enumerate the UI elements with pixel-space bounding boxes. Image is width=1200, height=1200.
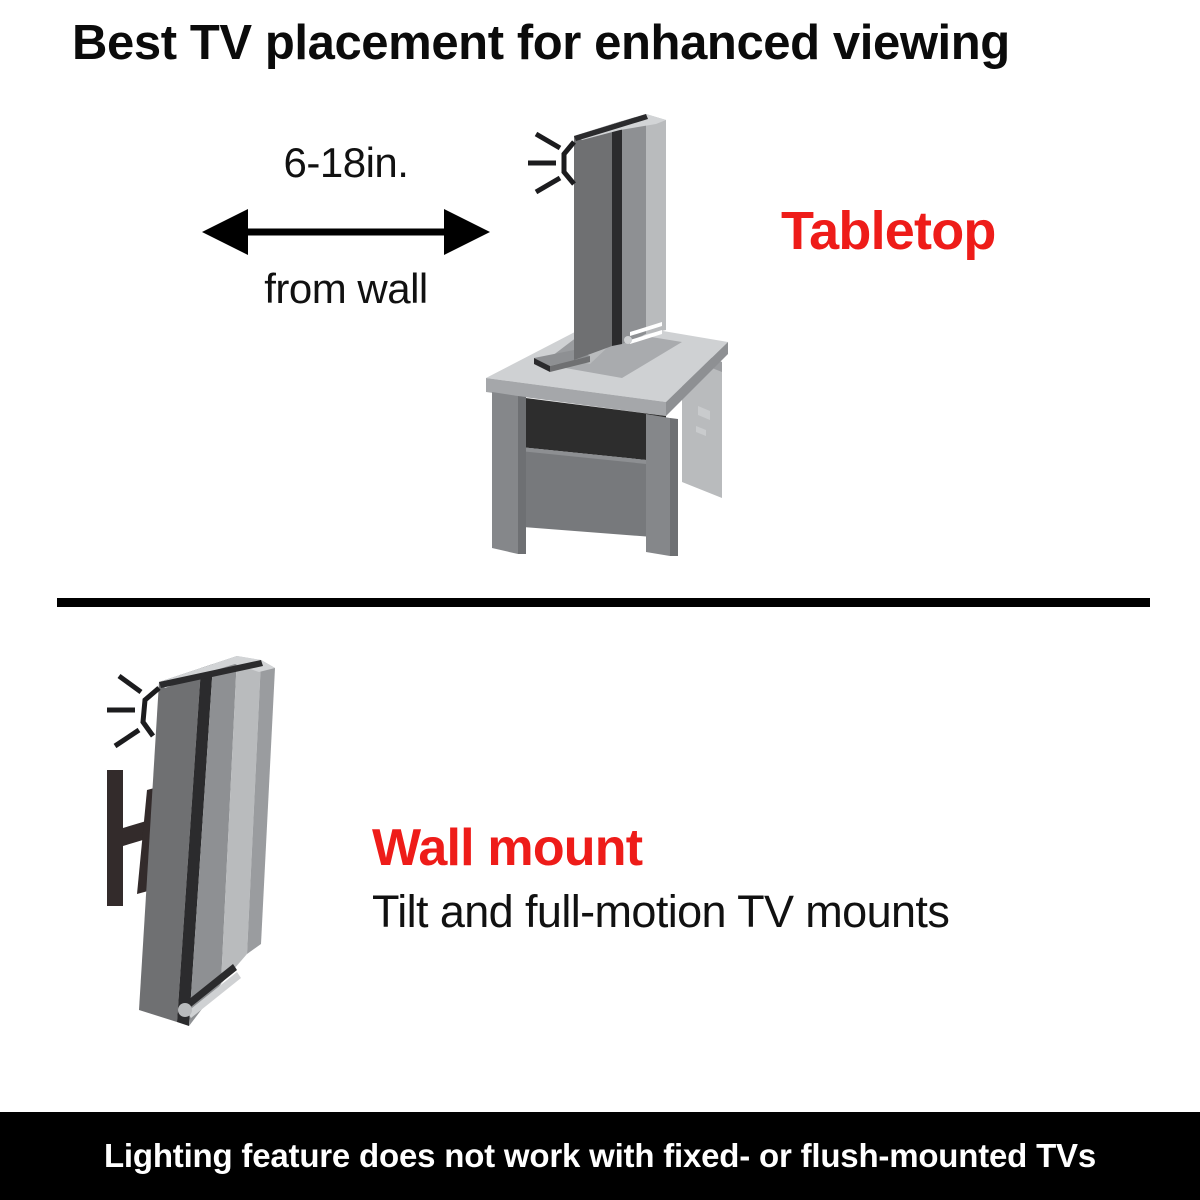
bottom-disclaimer-banner: Lighting feature does not work with fixe…: [0, 1112, 1200, 1200]
wallmount-subcaption: Tilt and full-motion TV mounts: [372, 886, 949, 938]
tv-rear-three-quarter-icon: [574, 114, 666, 360]
wallmount-illustration: [85, 638, 335, 1063]
wallmount-caption: Wall mount: [372, 818, 642, 878]
tilted-wall-mounted-tv-with-backlight-illustration: [85, 638, 335, 1058]
tv-tilted-icon: [139, 656, 275, 1026]
measurement-callout: 6-18in. from wall: [196, 142, 496, 310]
light-rays-icon: [107, 676, 159, 746]
tv-on-console-table-with-backlight-illustration: [470, 110, 770, 560]
tabletop-caption: Tabletop: [781, 200, 996, 262]
measurement-distance-label: 6-18in.: [196, 142, 496, 184]
disclaimer-text: Lighting feature does not work with fixe…: [104, 1137, 1096, 1175]
console-table-icon: [486, 320, 728, 556]
light-rays-icon: [528, 134, 574, 192]
tabletop-illustration: [470, 110, 770, 565]
double-headed-horizontal-arrow-icon: [196, 204, 496, 260]
section-divider: [57, 598, 1150, 607]
measurement-reference-label: from wall: [196, 268, 496, 310]
measurement-arrow: [196, 204, 496, 260]
infographic-canvas: Best TV placement for enhanced viewing 6…: [0, 0, 1200, 1200]
page-title: Best TV placement for enhanced viewing: [72, 18, 1162, 69]
